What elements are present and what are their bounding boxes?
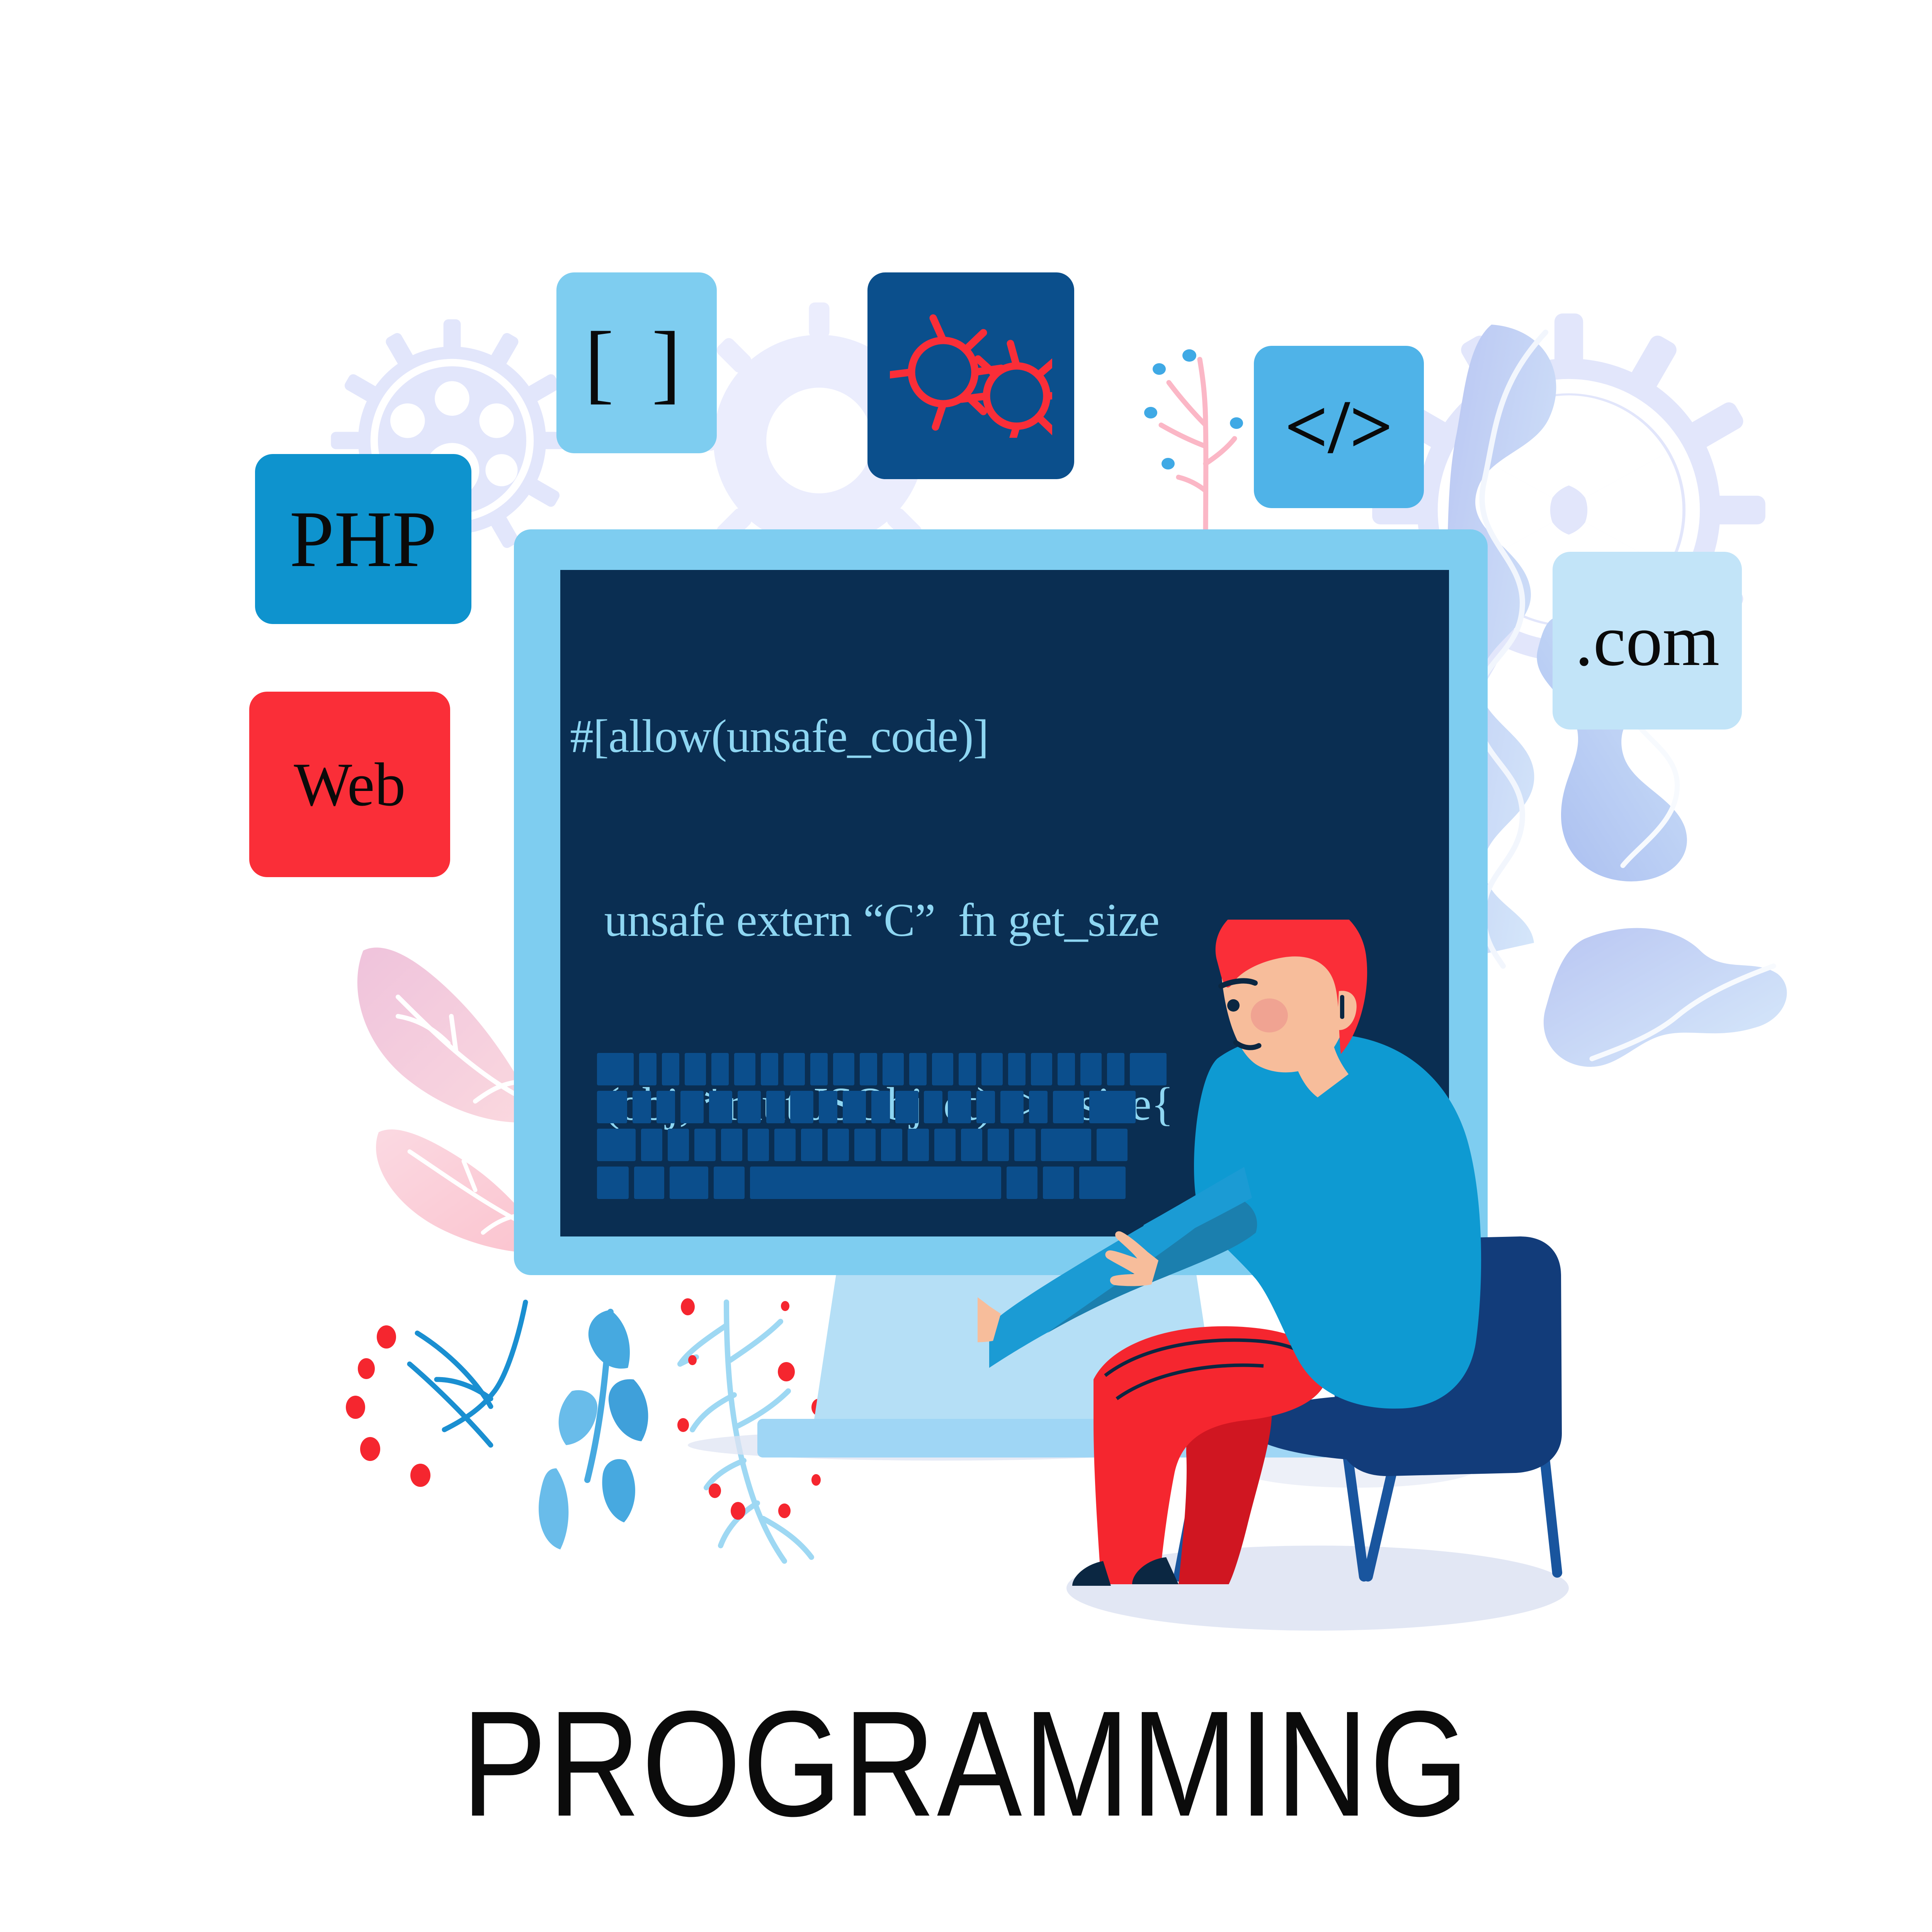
badge-php-label: PHP xyxy=(289,499,437,579)
badge-bug[interactable] xyxy=(867,272,1074,479)
keyboard-key[interactable] xyxy=(784,1053,805,1085)
keyboard-key[interactable] xyxy=(909,1053,927,1085)
badge-array[interactable]: [ ] xyxy=(556,272,717,453)
keyboard-key[interactable] xyxy=(761,1053,778,1085)
keyboard-key[interactable] xyxy=(908,1129,929,1161)
keyboard-key[interactable] xyxy=(734,1053,755,1085)
keyboard-key[interactable] xyxy=(860,1053,877,1085)
keyboard-key[interactable] xyxy=(634,1167,664,1199)
ear-detail xyxy=(1340,995,1344,1019)
keyboard-key[interactable] xyxy=(694,1129,716,1161)
keyboard-key[interactable] xyxy=(662,1053,679,1085)
bug-virus-icon xyxy=(890,314,1052,438)
keyboard-key[interactable] xyxy=(685,1053,706,1085)
keyboard-key[interactable] xyxy=(810,1053,828,1085)
keyboard-key[interactable] xyxy=(774,1129,796,1161)
keyboard-key[interactable] xyxy=(924,1091,942,1123)
keyboard-key[interactable] xyxy=(721,1129,742,1161)
keyboard-key[interactable] xyxy=(948,1091,971,1123)
keyboard-key[interactable] xyxy=(819,1091,837,1123)
keyboard-key[interactable] xyxy=(670,1167,708,1199)
badge-code-label: </> xyxy=(1285,389,1393,465)
keyboard-key[interactable] xyxy=(641,1129,662,1161)
keyboard-key[interactable] xyxy=(656,1091,675,1123)
cheek-blush xyxy=(1251,998,1288,1032)
keyboard-key[interactable] xyxy=(871,1091,890,1123)
badge-code[interactable]: </> xyxy=(1254,346,1424,508)
keyboard-key[interactable] xyxy=(934,1129,956,1161)
keyboard-key[interactable] xyxy=(881,1129,902,1161)
keyboard-key[interactable] xyxy=(711,1053,729,1085)
keyboard-key[interactable] xyxy=(668,1129,689,1161)
badge-dotcom[interactable]: .com xyxy=(1553,552,1742,730)
keyboard-key[interactable] xyxy=(633,1091,651,1123)
keyboard-key[interactable] xyxy=(828,1129,849,1161)
eye xyxy=(1227,999,1240,1012)
keyboard-key[interactable] xyxy=(833,1053,854,1085)
keyboard-key[interactable] xyxy=(597,1053,634,1085)
keyboard-key[interactable] xyxy=(709,1091,732,1123)
keyboard-key-space[interactable] xyxy=(750,1167,1001,1199)
code-line: #[allow(unsafe_code)] xyxy=(570,706,1439,767)
badge-php[interactable]: PHP xyxy=(255,454,471,624)
keyboard-key[interactable] xyxy=(895,1091,918,1123)
keyboard-key[interactable] xyxy=(738,1091,761,1123)
keyboard-key[interactable] xyxy=(597,1167,629,1199)
badge-dotcom-label: .com xyxy=(1575,604,1720,677)
keyboard-key[interactable] xyxy=(639,1053,656,1085)
keyboard-key[interactable] xyxy=(932,1053,953,1085)
page-title: PROGRAMMING xyxy=(0,1677,1932,1850)
keyboard-key[interactable] xyxy=(766,1091,785,1123)
person-and-chair xyxy=(978,920,1634,1615)
keyboard-key[interactable] xyxy=(801,1129,822,1161)
badge-array-label: [ ] xyxy=(584,318,689,407)
keyboard-key[interactable] xyxy=(714,1167,745,1199)
illustration-canvas: #[allow(unsafe_code)] unsafe extern “C” … xyxy=(0,0,1932,1932)
keyboard-key[interactable] xyxy=(883,1053,904,1085)
keyboard-key[interactable] xyxy=(959,1053,976,1085)
keyboard-key[interactable] xyxy=(843,1091,866,1123)
keyboard-key[interactable] xyxy=(597,1091,627,1123)
badge-web-label: Web xyxy=(294,753,405,815)
keyboard-key[interactable] xyxy=(748,1129,769,1161)
keyboard-key[interactable] xyxy=(854,1129,876,1161)
badge-web[interactable]: Web xyxy=(249,692,450,877)
keyboard-key[interactable] xyxy=(680,1091,704,1123)
keyboard-key[interactable] xyxy=(597,1129,636,1161)
keyboard-key[interactable] xyxy=(790,1091,813,1123)
sprig-decor-pink xyxy=(1109,309,1279,549)
